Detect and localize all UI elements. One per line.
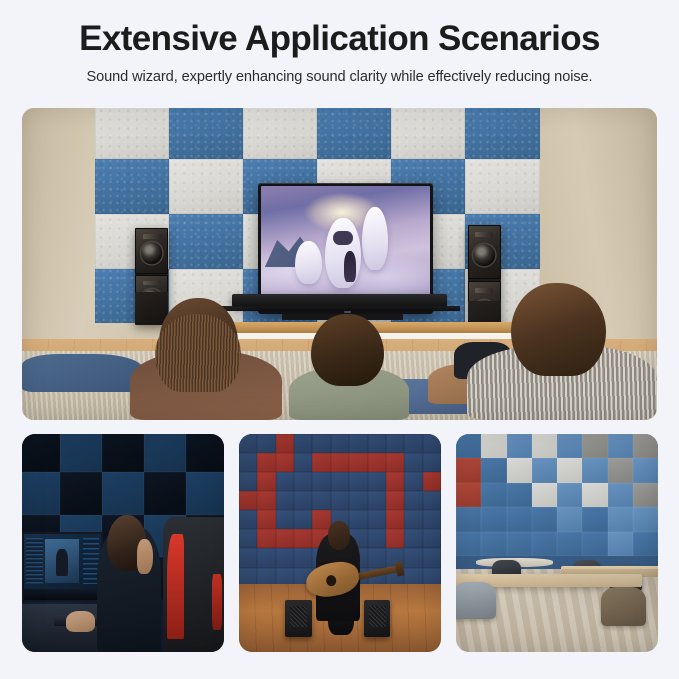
acoustic-panel-tile: [169, 108, 243, 159]
person-right-head: [511, 283, 606, 377]
acoustic-panel-tile: [257, 434, 275, 453]
acoustic-panel-tile: [423, 472, 441, 491]
acoustic-panel-tile: [102, 472, 144, 515]
acoustic-panel-tile: [144, 472, 186, 515]
t2-amplifier-left: [285, 600, 311, 637]
acoustic-panel-tile: [456, 507, 481, 531]
t2-amplifier-right: [364, 600, 390, 637]
acoustic-panel-tile: [423, 434, 441, 453]
acoustic-panel-tile: [239, 548, 257, 567]
acoustic-panel-tile: [368, 453, 386, 472]
acoustic-panel-tile: [368, 472, 386, 491]
acoustic-panel-tile: [386, 510, 404, 529]
acoustic-panel-tile: [386, 491, 404, 510]
acoustic-panel-tile: [349, 491, 367, 510]
acoustic-panel-tile: [386, 472, 404, 491]
acoustic-panel-tile: [257, 472, 275, 491]
acoustic-panel-tile: [456, 532, 481, 556]
acoustic-panel-tile: [368, 434, 386, 453]
acoustic-panel-tile: [294, 491, 312, 510]
acoustic-panel-tile: [186, 472, 224, 515]
t1-person-face: [137, 539, 153, 574]
acoustic-panel-tile: [60, 472, 102, 515]
person-left-hair: [155, 314, 241, 392]
acoustic-panel-tile: [404, 491, 422, 510]
acoustic-panel-tile: [22, 472, 60, 515]
acoustic-panel-tile: [331, 491, 349, 510]
acoustic-panel-tile: [456, 458, 481, 482]
acoustic-panel-tile: [608, 434, 633, 458]
acoustic-panel-tile: [368, 548, 386, 567]
acoustic-panel-tile: [633, 532, 658, 556]
acoustic-panel-tile: [95, 108, 169, 159]
soundbar: [232, 294, 448, 307]
acoustic-panel-tile: [257, 529, 275, 548]
acoustic-panel-tile: [276, 510, 294, 529]
acoustic-panel-tile: [22, 434, 60, 472]
acoustic-panel-tile: [557, 434, 582, 458]
acoustic-panel-tile: [633, 458, 658, 482]
acoustic-panel-tile: [481, 532, 506, 556]
acoustic-panel-tile: [532, 507, 557, 531]
acoustic-panel-tile: [481, 507, 506, 531]
acoustic-panel-tile: [294, 453, 312, 472]
t1-person-hand: [66, 611, 94, 633]
acoustic-panel-tile: [456, 434, 481, 458]
acoustic-panel-tile: [404, 548, 422, 567]
acoustic-panel-tile: [312, 491, 330, 510]
acoustic-panel-tile: [608, 507, 633, 531]
t2-guitarist-head: [328, 521, 350, 549]
acoustic-panel-tile: [608, 458, 633, 482]
acoustic-panel-tile: [507, 532, 532, 556]
acoustic-panel-tile: [102, 434, 144, 472]
acoustic-panel-tile: [423, 529, 441, 548]
thumbnail-music-studio: [239, 434, 441, 652]
acoustic-panel-tile: [239, 510, 257, 529]
acoustic-panel-tile: [294, 548, 312, 567]
acoustic-panel-tile: [312, 472, 330, 491]
acoustic-panel-tile: [557, 458, 582, 482]
acoustic-panel-tile: [507, 434, 532, 458]
acoustic-panel-tile: [239, 453, 257, 472]
acoustic-panel-tile: [423, 453, 441, 472]
acoustic-panel-tile: [169, 214, 243, 269]
acoustic-panel-tile: [582, 532, 607, 556]
acoustic-panel-tile: [186, 434, 224, 472]
acoustic-panel-tile: [257, 491, 275, 510]
acoustic-panel-tile: [386, 453, 404, 472]
acoustic-panel-tile: [257, 548, 275, 567]
acoustic-panel-tile: [423, 548, 441, 567]
marketing-page: Extensive Application Scenarios Sound wi…: [0, 0, 679, 679]
acoustic-panel-tile: [391, 108, 465, 159]
acoustic-panel-tile: [169, 159, 243, 214]
acoustic-panel-tile: [257, 453, 275, 472]
acoustic-panel-tile: [423, 491, 441, 510]
acoustic-panel-tile: [465, 108, 539, 159]
acoustic-panel-tile: [349, 510, 367, 529]
acoustic-panel-tile: [349, 434, 367, 453]
soundbar-base: [219, 306, 460, 311]
tv-screen: [261, 186, 430, 306]
acoustic-panel-tile: [257, 510, 275, 529]
t1-chair-red-accent: [167, 534, 183, 639]
acoustic-panel-tile: [331, 434, 349, 453]
acoustic-panel-tile: [294, 510, 312, 529]
acoustic-panel-tile: [276, 491, 294, 510]
acoustic-panel-tile: [507, 507, 532, 531]
acoustic-panel-tile: [276, 434, 294, 453]
acoustic-panel-tile: [368, 510, 386, 529]
acoustic-panel-tile: [294, 529, 312, 548]
acoustic-panel-tile: [404, 453, 422, 472]
acoustic-panel-tile: [243, 108, 317, 159]
acoustic-panel-tile: [144, 434, 186, 472]
acoustic-panel-tile: [404, 434, 422, 453]
thumbnail-gaming-room: [22, 434, 224, 652]
acoustic-panel-tile: [465, 159, 539, 214]
acoustic-panel-tile: [349, 453, 367, 472]
person-center-head: [311, 314, 384, 386]
acoustic-panel-tile: [532, 458, 557, 482]
acoustic-panel-tile: [582, 458, 607, 482]
acoustic-panel-tile: [331, 453, 349, 472]
acoustic-panel-tile: [386, 434, 404, 453]
acoustic-panel-tile: [95, 159, 169, 214]
acoustic-panel-tile: [404, 472, 422, 491]
acoustic-panel-tile: [404, 510, 422, 529]
acoustic-panel-tile: [582, 434, 607, 458]
acoustic-panel-tile: [557, 483, 582, 507]
acoustic-panel-tile: [317, 108, 391, 159]
acoustic-panel-tile: [608, 483, 633, 507]
acoustic-panel-tile: [481, 434, 506, 458]
acoustic-panel-tile: [239, 491, 257, 510]
acoustic-panel-tile: [557, 507, 582, 531]
acoustic-panel-tile: [608, 532, 633, 556]
acoustic-panel-tile: [368, 491, 386, 510]
acoustic-panel-tile: [331, 472, 349, 491]
acoustic-panel-tile: [349, 472, 367, 491]
acoustic-panel-tile: [404, 529, 422, 548]
acoustic-panel-tile: [386, 529, 404, 548]
acoustic-panel-tile: [456, 483, 481, 507]
t1-chair-red-logo: [212, 574, 222, 631]
person-left-arm: [22, 354, 143, 391]
t1-monitor: [22, 532, 103, 602]
acoustic-panel-tile: [276, 529, 294, 548]
acoustic-panel-tile: [557, 532, 582, 556]
page-subtitle: Sound wizard, expertly enhancing sound c…: [0, 66, 679, 88]
thumbnail-office-room: [456, 434, 658, 652]
acoustic-panel-tile: [239, 529, 257, 548]
acoustic-panel-tile: [582, 507, 607, 531]
acoustic-panel-tile: [239, 434, 257, 453]
acoustic-panel-tile: [532, 434, 557, 458]
acoustic-panel-tile: [239, 472, 257, 491]
t3-acoustic-panel-wall: [456, 434, 658, 556]
acoustic-panel-tile: [532, 532, 557, 556]
acoustic-panel-tile: [368, 529, 386, 548]
acoustic-panel-tile: [633, 483, 658, 507]
acoustic-panel-tile: [633, 507, 658, 531]
acoustic-panel-tile: [294, 434, 312, 453]
page-title: Extensive Application Scenarios: [0, 16, 679, 61]
acoustic-panel-tile: [276, 453, 294, 472]
hero-image-home-theater: [22, 108, 657, 420]
acoustic-panel-tile: [312, 453, 330, 472]
acoustic-panel-tile: [507, 483, 532, 507]
acoustic-panel-tile: [633, 434, 658, 458]
acoustic-panel-tile: [532, 483, 557, 507]
acoustic-panel-tile: [481, 458, 506, 482]
acoustic-panel-tile: [423, 510, 441, 529]
acoustic-panel-tile: [276, 548, 294, 567]
acoustic-panel-tile: [312, 434, 330, 453]
acoustic-panel-tile: [481, 483, 506, 507]
acoustic-panel-tile: [276, 472, 294, 491]
acoustic-panel-tile: [582, 483, 607, 507]
acoustic-panel-tile: [294, 472, 312, 491]
acoustic-panel-tile: [60, 434, 102, 472]
acoustic-panel-tile: [507, 458, 532, 482]
tower-speaker-left: [135, 228, 168, 325]
acoustic-panel-tile: [312, 510, 330, 529]
